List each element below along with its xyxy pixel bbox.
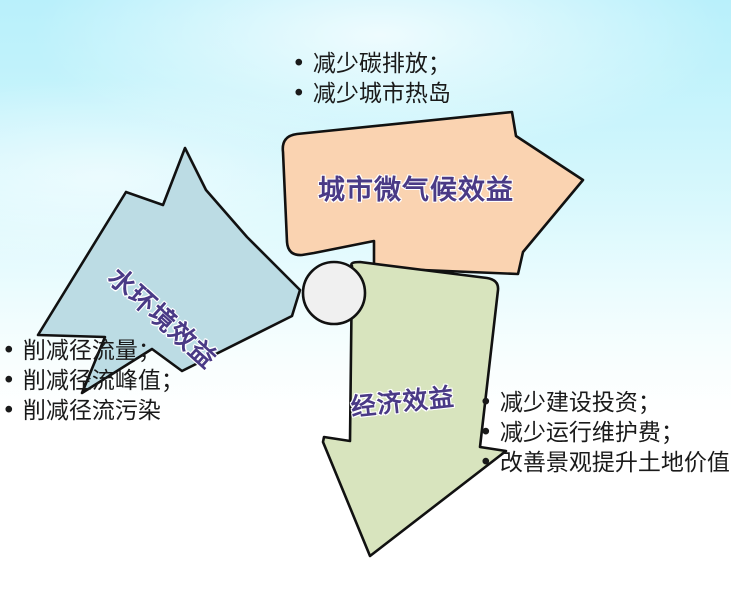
bullet-item: • 减少碳排放； xyxy=(292,50,451,80)
bullet-list-economy: • 减少建设投资； • 减少运行维护费； • 改善景观提升土地价值 xyxy=(479,389,730,479)
hub-circle[interactable] xyxy=(303,262,365,324)
bullet-item: • 削减径流峰值； xyxy=(2,367,184,397)
bullet-list-water: • 削减径流量； • 削减径流峰值； • 削减径流污染 xyxy=(2,337,184,427)
bullet-item: • 减少运行维护费； xyxy=(479,419,730,449)
bullet-item: • 减少城市热岛 xyxy=(292,80,451,110)
bullet-item: • 削减径流污染 xyxy=(2,397,184,427)
bullet-item: • 削减径流量； xyxy=(2,337,184,367)
diagram-canvas: 城市微气候效益 水环境效益 经济效益 • 减少碳排放； • 减少城市热岛 • 削… xyxy=(0,0,731,589)
bullet-item: • 减少建设投资； xyxy=(479,389,730,419)
arrow-label-climate: 城市微气候效益 xyxy=(318,168,514,207)
bullet-list-climate: • 减少碳排放； • 减少城市热岛 xyxy=(292,50,451,110)
bullet-item: • 改善景观提升土地价值 xyxy=(479,449,730,479)
